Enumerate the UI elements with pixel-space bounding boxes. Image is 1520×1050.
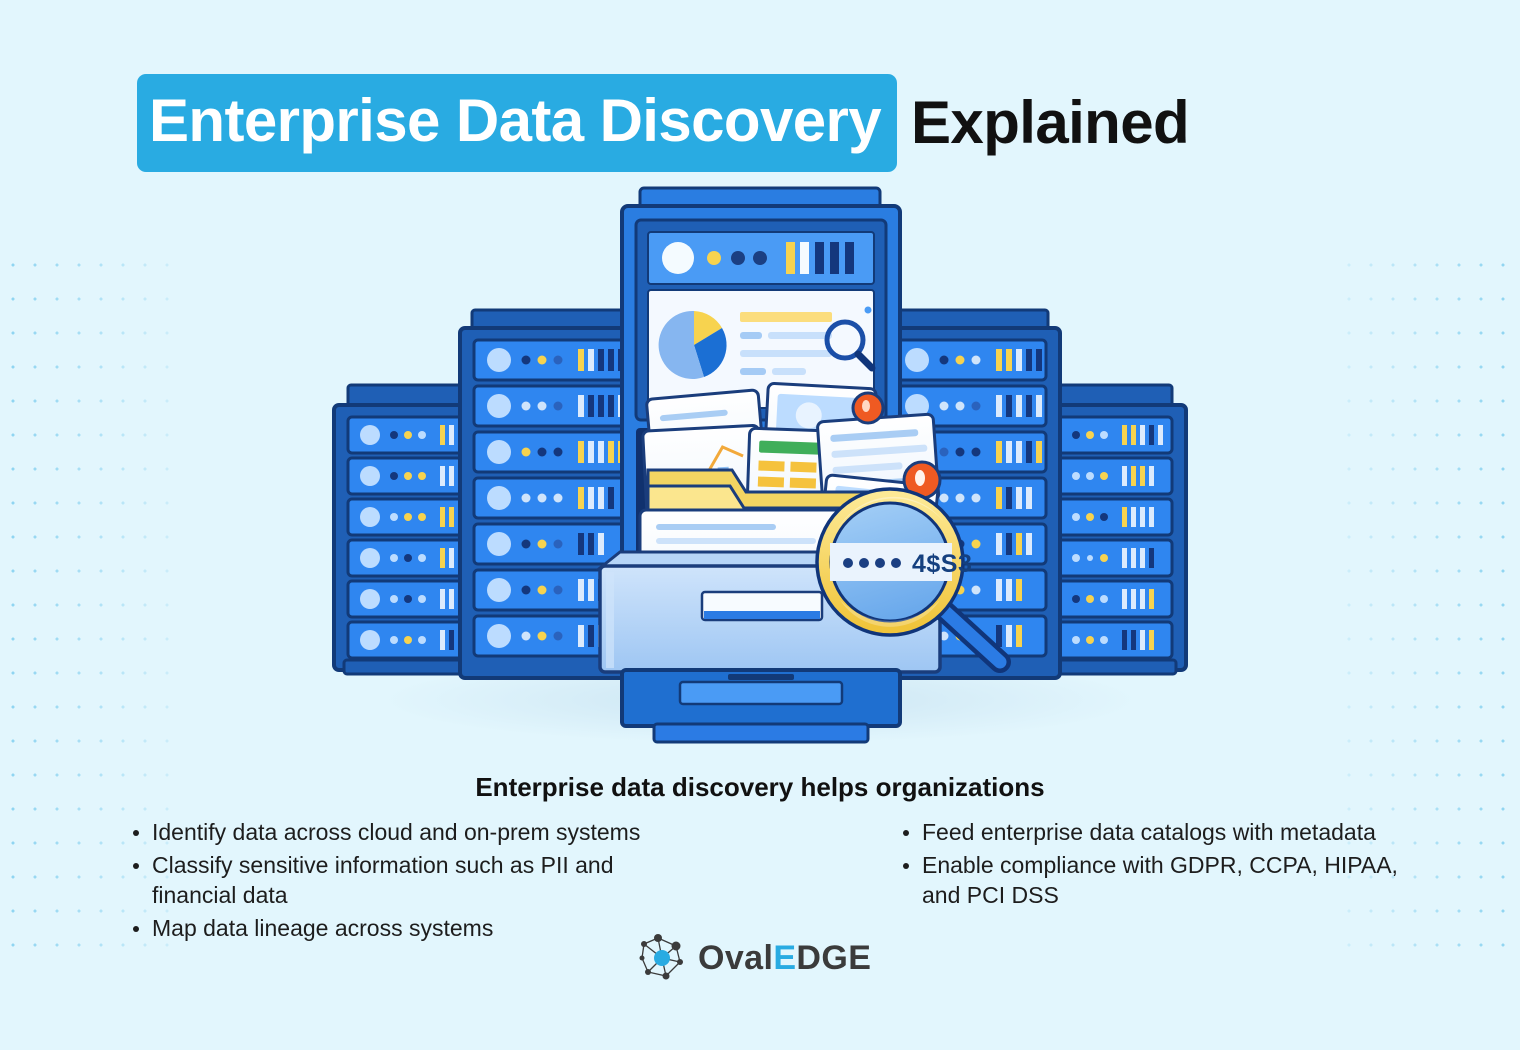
badge-pin-top (853, 393, 883, 423)
logo-text-part1: Oval (698, 939, 773, 977)
page-title-plain: Explained (897, 93, 1189, 153)
list-item: Identify data across cloud and on-prem s… (128, 818, 648, 848)
ovaledge-network-icon (636, 932, 688, 984)
page-title: Enterprise Data Discovery Explained (137, 74, 1189, 172)
illustration-svg: OD (300, 180, 1220, 750)
list-item: Enable compliance with GDPR, CCPA, HIPAA… (898, 851, 1418, 911)
ovaledge-logo[interactable]: OvalEDGE (636, 932, 871, 984)
cabinet-base (622, 670, 900, 742)
benefits-list-right: Feed enterprise data catalogs with metad… (898, 818, 1418, 914)
logo-text-accent: E (773, 939, 796, 977)
logo-text-part2: DGE (796, 939, 871, 977)
page-title-highlighted: Enterprise Data Discovery (137, 74, 897, 172)
ovaledge-wordmark: OvalEDGE (698, 941, 871, 975)
list-item: Map data lineage across systems (128, 914, 648, 944)
section-subheading: Enterprise data discovery helps organiza… (0, 772, 1520, 803)
list-item: Feed enterprise data catalogs with metad… (898, 818, 1418, 848)
dashboard-status-strip (648, 232, 874, 284)
benefits-list-left: Identify data across cloud and on-prem s… (128, 818, 648, 947)
magnifier-sensitive-value: 4$S3 (912, 550, 972, 578)
data-discovery-illustration: OD (300, 180, 1220, 750)
list-item: Classify sensitive information such as P… (128, 851, 648, 911)
infographic-poster: Enterprise Data Discovery Explained (0, 0, 1520, 1050)
pie-chart-icon (659, 311, 727, 379)
